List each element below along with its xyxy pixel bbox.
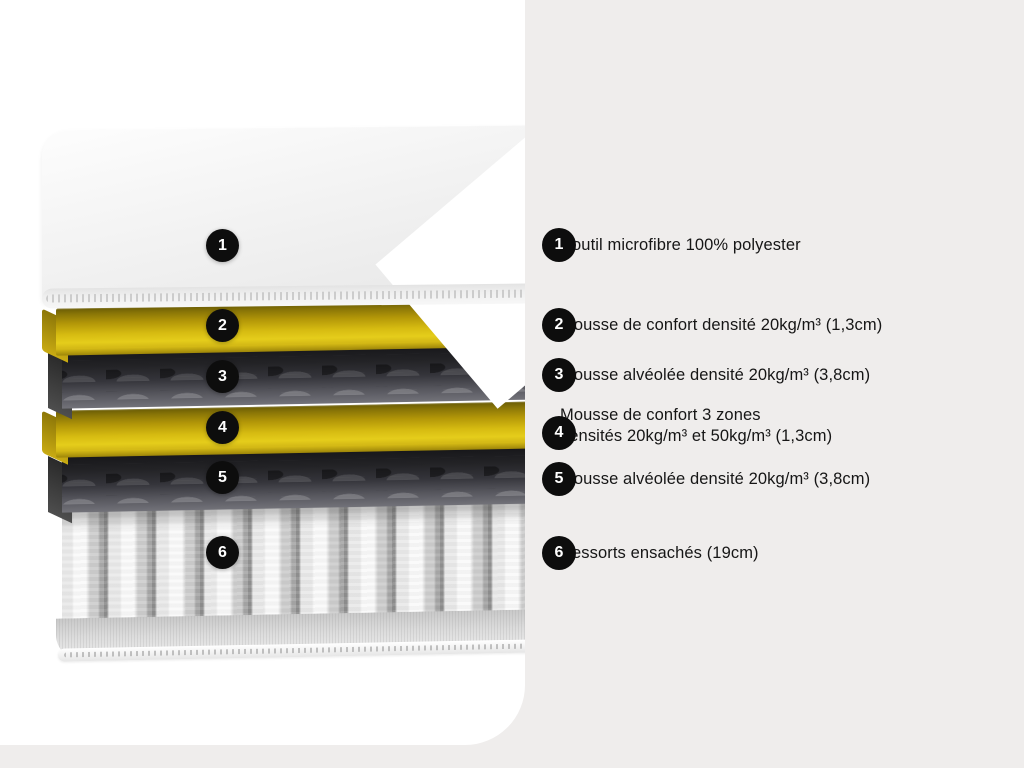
- mattress-layer-4-foam: [56, 401, 525, 452]
- legend-item-4: 4 Mousse de confort 3 zones densités 20k…: [542, 405, 832, 447]
- legend-label-1: Coutil microfibre 100% polyester: [560, 228, 801, 256]
- legend-item-6: 6 Ressorts ensachés (19cm): [542, 536, 759, 564]
- layer-badge-3: 3: [206, 360, 239, 393]
- legend-badge-6: 6: [542, 536, 576, 570]
- legend-item-1: 1 Coutil microfibre 100% polyester: [542, 228, 801, 256]
- layer-badge-5: 5: [206, 461, 239, 494]
- mattress-layer-5-foam: [62, 447, 525, 512]
- layer-badge-2: 2: [206, 309, 239, 342]
- legend-label-5: Mousse alvéolée densité 20kg/m³ (3,8cm): [560, 462, 870, 490]
- legend-label-6: Ressorts ensachés (19cm): [560, 536, 759, 564]
- legend-item-5: 5 Mousse alvéolée densité 20kg/m³ (3,8cm…: [542, 462, 870, 490]
- layer-badge-4: 4: [206, 411, 239, 444]
- legend-item-2: 2 Mousse de confort densité 20kg/m³ (1,3…: [542, 308, 882, 336]
- mattress-layer-1-cover: [42, 125, 525, 302]
- legend-item-3: 3 Mousse alvéolée densité 20kg/m³ (3,8cm…: [542, 358, 870, 386]
- mattress-composition-diagram: 1 2 3 4 5 6 1 Coutil microfibre 100% pol…: [0, 0, 1024, 768]
- layer-badge-6: 6: [206, 536, 239, 569]
- layer-5-front: [62, 447, 525, 512]
- legend-badge-4: 4: [542, 416, 576, 450]
- legend-badge-2: 2: [542, 308, 576, 342]
- legend-label-4: Mousse de confort 3 zones densités 20kg/…: [560, 405, 832, 447]
- legend-label-2: Mousse de confort densité 20kg/m³ (1,3cm…: [560, 308, 882, 336]
- layer-badge-1: 1: [206, 229, 239, 262]
- mattress-illustration: 1 2 3 4 5 6: [0, 0, 525, 768]
- legend-badge-5: 5: [542, 462, 576, 496]
- legend-list: 1 Coutil microfibre 100% polyester 2 Mou…: [542, 0, 1012, 768]
- legend-badge-3: 3: [542, 358, 576, 392]
- legend-badge-1: 1: [542, 228, 576, 262]
- legend-label-3: Mousse alvéolée densité 20kg/m³ (3,8cm): [560, 358, 870, 386]
